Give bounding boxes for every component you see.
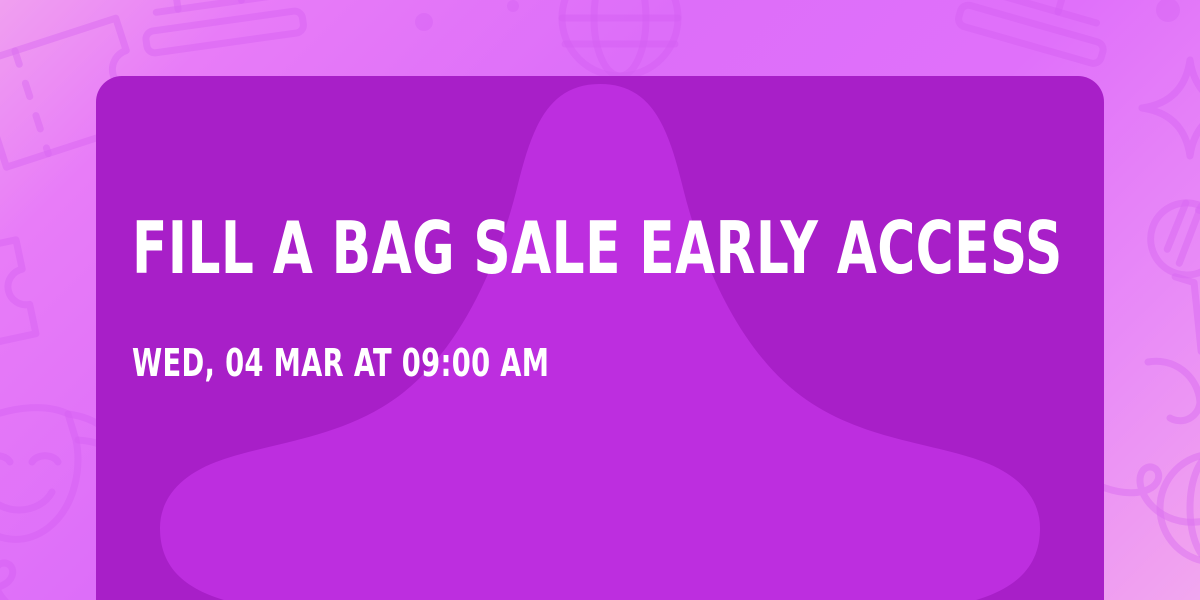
sparkle-icon	[1142, 60, 1200, 156]
confetti-dot-icon	[415, 13, 433, 31]
globe-icon	[1160, 454, 1200, 562]
stage-podium-icon	[957, 0, 1126, 65]
event-title: FILL A BAG SALE EARLY ACCESS	[132, 212, 1063, 284]
microphone-icon	[1134, 190, 1200, 351]
event-banner: FILL A BAG SALE EARLY ACCESS WED, 04 MAR…	[0, 0, 1200, 600]
streamer-ribbon-icon	[0, 563, 40, 600]
ticket-icon	[0, 240, 36, 354]
confetti-dot-icon	[507, 0, 519, 12]
confetti-dot-icon	[1156, 0, 1180, 22]
event-datetime: WED, 04 MAR AT 09:00 AM	[132, 344, 549, 382]
globe-icon	[562, 0, 678, 76]
stage-podium-icon	[134, 0, 305, 54]
event-card-content: FILL A BAG SALE EARLY ACCESS WED, 04 MAR…	[132, 76, 1068, 600]
event-card[interactable]: FILL A BAG SALE EARLY ACCESS WED, 04 MAR…	[96, 76, 1104, 600]
